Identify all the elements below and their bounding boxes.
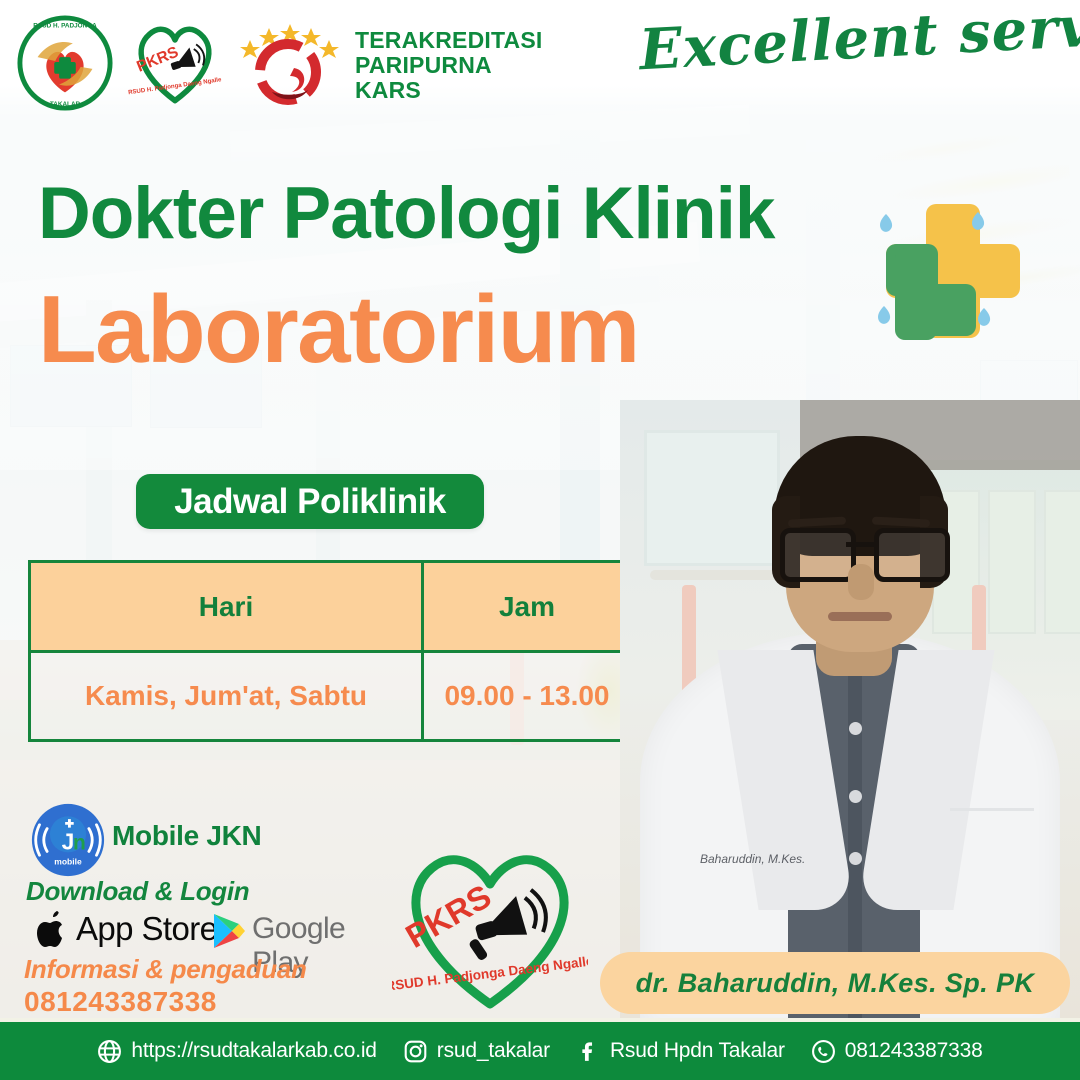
svg-text:RSUD H. Padjonga Daeng Ngalle: RSUD H. Padjonga Daeng Ngalle — [128, 77, 222, 96]
page-title-line2: Laboratorium — [38, 275, 639, 385]
footer-website-label: https://rsudtakalarkab.co.id — [131, 1039, 376, 1063]
glasses-lens-left — [780, 528, 856, 582]
app-store-badges: App Store Google Play — [24, 906, 364, 954]
kars-line-1: TERAKREDITASI — [355, 28, 555, 53]
table-header-row: Hari Jam — [30, 562, 632, 652]
schedule-table: Hari Jam Kamis, Jum'at, Sabtu 09.00 - 13… — [28, 560, 633, 742]
doctor-nose — [848, 564, 874, 600]
shirt-button — [849, 790, 862, 803]
svg-text:mobile: mobile — [54, 857, 82, 867]
shirt-button — [849, 852, 862, 865]
poster-root: Excellent service RSUD H. PADJONGA · TAK… — [0, 0, 1080, 1080]
table-header-hari: Hari — [30, 562, 423, 652]
glasses-lens-right — [874, 528, 950, 582]
info-complaint-label: Informasi & pengaduan — [24, 954, 307, 985]
doctor-photo: Baharuddin, M.Kes. — [620, 400, 1080, 1025]
footer-whatsapp-label: 081243387338 — [845, 1039, 983, 1063]
mobile-jkn-title: Mobile JKN — [112, 820, 261, 852]
instagram-icon — [403, 1039, 428, 1064]
svg-text:RSUD H. PADJONGA: RSUD H. PADJONGA — [33, 23, 97, 30]
cell-jam: 09.00 - 13.00 — [423, 652, 632, 741]
footer-item-facebook[interactable]: Rsud Hpdn Takalar — [576, 1039, 785, 1064]
download-login-label: Download & Login — [26, 876, 249, 907]
mobile-jkn-logo-icon: J n mobile — [30, 802, 106, 878]
doctor-photo-rail — [650, 570, 790, 580]
kars-accreditation-icon — [228, 16, 348, 108]
logo-row: RSUD H. PADJONGA · TAKALAR · PKRS RSUD H… — [0, 0, 1080, 118]
pkrs-small-heart-icon: PKRS RSUD H. Padjonga Daeng Ngalle — [128, 16, 222, 108]
hospital-seal-icon: RSUD H. PADJONGA · TAKALAR · — [16, 14, 114, 112]
medical-cross-decoration-icon — [862, 196, 1042, 356]
whatsapp-icon — [811, 1039, 836, 1064]
svg-text:n: n — [73, 832, 86, 855]
apple-icon — [30, 908, 70, 952]
footer-item-instagram[interactable]: rsud_takalar — [403, 1039, 550, 1064]
doctor-photo-noticeboard — [988, 490, 1036, 634]
cell-hari: Kamis, Jum'at, Sabtu — [30, 652, 423, 741]
table-header-jam: Jam — [423, 562, 632, 652]
coat-pocket — [950, 808, 1034, 881]
shirt-button — [849, 722, 862, 735]
doctor-name-banner: dr. Baharuddin, M.Kes. Sp. PK — [600, 952, 1070, 1014]
kars-text-block: TERAKREDITASI PARIPURNA KARS — [355, 28, 555, 103]
footer-facebook-label: Rsud Hpdn Takalar — [610, 1039, 785, 1063]
pkrs-heart-badge-icon: PKRS RSUD H. Padjonga Daeng Ngalle — [392, 836, 588, 1016]
kars-line-2: PARIPURNA — [355, 53, 555, 78]
doctor-photo-noticeboard — [1044, 490, 1080, 634]
coat-embroidery: Baharuddin, M.Kes. — [700, 852, 820, 868]
google-play-icon — [210, 912, 246, 950]
pkrs-subtitle: RSUD H. Padjonga Daeng Ngalle — [392, 953, 588, 993]
facebook-icon — [576, 1039, 601, 1064]
svg-text:· TAKALAR ·: · TAKALAR · — [46, 101, 84, 108]
schedule-badge: Jadwal Poliklinik — [136, 474, 484, 529]
footer-bar: https://rsudtakalarkab.co.id rsud_takala… — [0, 1022, 1080, 1080]
doctor-mouth — [828, 612, 892, 621]
globe-icon — [97, 1039, 122, 1064]
app-store-label: App Store — [76, 910, 217, 948]
footer-item-website[interactable]: https://rsudtakalarkab.co.id — [97, 1039, 376, 1064]
footer-item-whatsapp[interactable]: 081243387338 — [811, 1039, 983, 1064]
footer-instagram-label: rsud_takalar — [437, 1039, 550, 1063]
doctor-photo-window — [644, 430, 780, 566]
table-row: Kamis, Jum'at, Sabtu 09.00 - 13.00 — [30, 652, 632, 741]
info-phone-number: 081243387338 — [24, 986, 217, 1018]
kars-line-3: KARS — [355, 78, 555, 103]
page-title-line1: Dokter Patologi Klinik — [38, 172, 774, 255]
glasses-bridge — [846, 542, 874, 547]
